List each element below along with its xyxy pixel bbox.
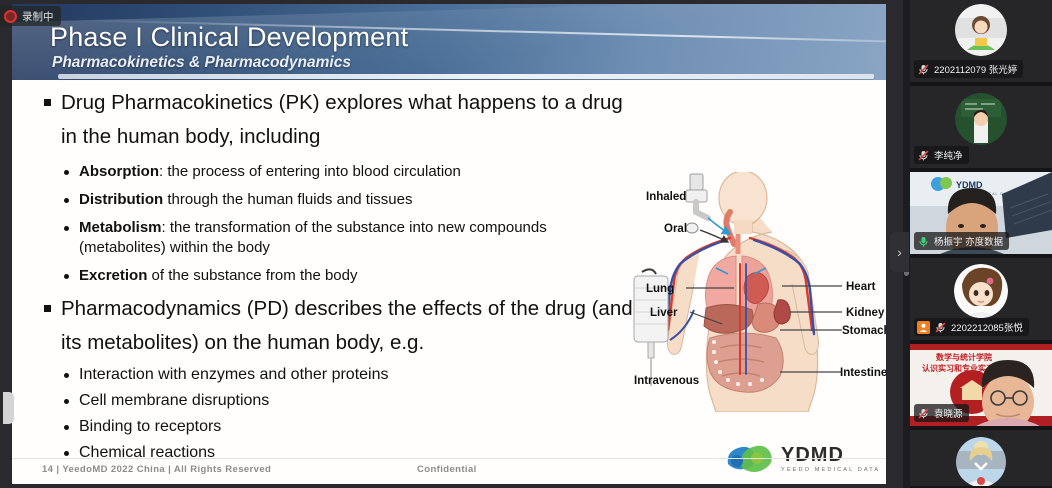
slide-header: Phase I Clinical Development Pharmacokin… bbox=[12, 4, 886, 80]
participant-tile-partial[interactable] bbox=[910, 430, 1052, 486]
dot-bullet-icon bbox=[64, 373, 69, 378]
participant-tile[interactable]: 2202212085张悦 bbox=[910, 258, 1052, 340]
panel-collapse-button[interactable]: › bbox=[890, 232, 909, 272]
dot-bullet-icon bbox=[64, 198, 69, 203]
zoom-meeting-window: Phase I Clinical Development Pharmacokin… bbox=[0, 0, 1052, 488]
participant-name: 袁晓源 bbox=[934, 406, 963, 420]
bullet-lead: Excretion bbox=[79, 267, 147, 284]
svg-text:数学与统计学院: 数学与统计学院 bbox=[936, 352, 992, 362]
figure-label-lung: Lung bbox=[646, 283, 674, 295]
figure-label-liver: Liver bbox=[650, 307, 678, 319]
figure-label-heart: Heart bbox=[846, 281, 876, 293]
slide-footer: 14 | YeedoMD 2022 China | All Rights Res… bbox=[12, 458, 886, 484]
dot-bullet-icon bbox=[64, 226, 69, 231]
bullet-binding: Binding to receptors bbox=[64, 417, 221, 437]
participant-nameplate: 袁晓源 bbox=[914, 404, 969, 422]
mic-muted-icon bbox=[917, 407, 930, 420]
bullet-pk: Drug Pharmacokinetics (PK) explores what… bbox=[44, 86, 644, 154]
figure-label-intestines: Intestines bbox=[840, 367, 886, 379]
mic-muted-icon bbox=[934, 321, 947, 334]
dot-bullet-icon bbox=[64, 425, 69, 430]
bullet-lead: Distribution bbox=[79, 191, 163, 208]
drug-administration-routes-diagram: Inhaled Oral Lung Liver Intravenous Hear… bbox=[630, 172, 886, 412]
bullet-rest: of the substance from the body bbox=[147, 267, 357, 284]
participant-nameplate: 2202212085张悦 bbox=[914, 318, 1029, 336]
bullet-lead: Metabolism bbox=[79, 219, 162, 236]
recording-label: 录制中 bbox=[22, 9, 54, 24]
figure-label-oral: Oral bbox=[664, 223, 687, 235]
bullet-rest: : the process of entering into blood cir… bbox=[159, 163, 461, 180]
figure-label-stomach: Stomach bbox=[842, 325, 886, 337]
bullet-pd: Pharmacodynamics (PD) describes the effe… bbox=[44, 292, 644, 360]
avatar bbox=[956, 437, 1006, 486]
shared-screen-region: Phase I Clinical Development Pharmacokin… bbox=[0, 0, 910, 488]
dot-bullet-icon bbox=[64, 274, 69, 279]
slide-title: Phase I Clinical Development bbox=[50, 22, 408, 53]
participant-nameplate: 2202112079 张光婷 bbox=[914, 60, 1023, 78]
bullet-excretion: Excretion of the substance from the body bbox=[64, 266, 357, 286]
bullet-metabolism: Metabolism: the transformation of the su… bbox=[64, 218, 564, 258]
dot-bullet-icon bbox=[64, 399, 69, 404]
bullet-rest: through the human fluids and tissues bbox=[163, 191, 412, 208]
mic-muted-icon bbox=[917, 149, 930, 162]
dot-bullet-icon bbox=[64, 451, 69, 456]
figure-label-intravenous: Intravenous bbox=[634, 375, 699, 387]
mic-active-icon bbox=[917, 235, 930, 248]
square-bullet-icon bbox=[44, 305, 51, 312]
footer-copyright: 14 | YeedoMD 2022 China | All Rights Res… bbox=[42, 464, 271, 475]
square-bullet-icon bbox=[44, 99, 51, 106]
participant-nameplate: 李纯净 bbox=[914, 146, 969, 164]
chevron-right-icon: › bbox=[897, 244, 902, 260]
header-underline bbox=[58, 74, 874, 79]
bullet-lead: Absorption bbox=[79, 163, 159, 180]
slide-subtitle: Pharmacokinetics & Pharmacodynamics bbox=[52, 54, 351, 72]
bullet-interaction: Interaction with enzymes and other prote… bbox=[64, 365, 389, 385]
avatar bbox=[955, 93, 1007, 145]
left-edge-handle[interactable] bbox=[3, 392, 14, 424]
avatar bbox=[954, 264, 1008, 318]
record-dot-icon bbox=[4, 10, 17, 23]
bullet-cell-membrane: Cell membrane disruptions bbox=[64, 391, 269, 411]
participant-tile[interactable]: 李纯净 bbox=[910, 86, 1052, 168]
participant-name: 杨振宇 亦度数据 bbox=[934, 234, 1003, 248]
footer-confidential: Confidential bbox=[417, 464, 477, 475]
participant-tile[interactable]: 2202112079 张光婷 bbox=[910, 0, 1052, 82]
figure-label-inhaled: Inhaled bbox=[646, 191, 686, 203]
mic-muted-icon bbox=[917, 63, 930, 76]
participant-name: 2202112079 张光婷 bbox=[934, 62, 1017, 76]
host-badge-icon bbox=[917, 321, 930, 334]
bullet-distribution: Distribution through the human fluids an… bbox=[64, 190, 412, 210]
participant-nameplate: 杨振宇 亦度数据 bbox=[914, 232, 1009, 250]
presentation-slide: Phase I Clinical Development Pharmacokin… bbox=[12, 4, 886, 484]
dot-bullet-icon bbox=[64, 170, 69, 175]
recording-badge[interactable]: 录制中 bbox=[0, 6, 61, 26]
participant-tile[interactable]: 数学与统计学院 认识实习和专业实习系列报告 bbox=[910, 344, 1052, 426]
participant-name: 2202212085张悦 bbox=[951, 320, 1023, 334]
avatar bbox=[955, 4, 1007, 56]
participant-video-panel: 2202112079 张光婷 bbox=[910, 0, 1052, 488]
participant-name: 李纯净 bbox=[934, 148, 963, 162]
bullet-absorption: Absorption: the process of entering into… bbox=[64, 162, 461, 182]
figure-label-kidney: Kidney bbox=[846, 307, 885, 319]
participant-tile-active-speaker[interactable]: YDMD YEEDO MEDICAL DATA bbox=[910, 172, 1052, 254]
